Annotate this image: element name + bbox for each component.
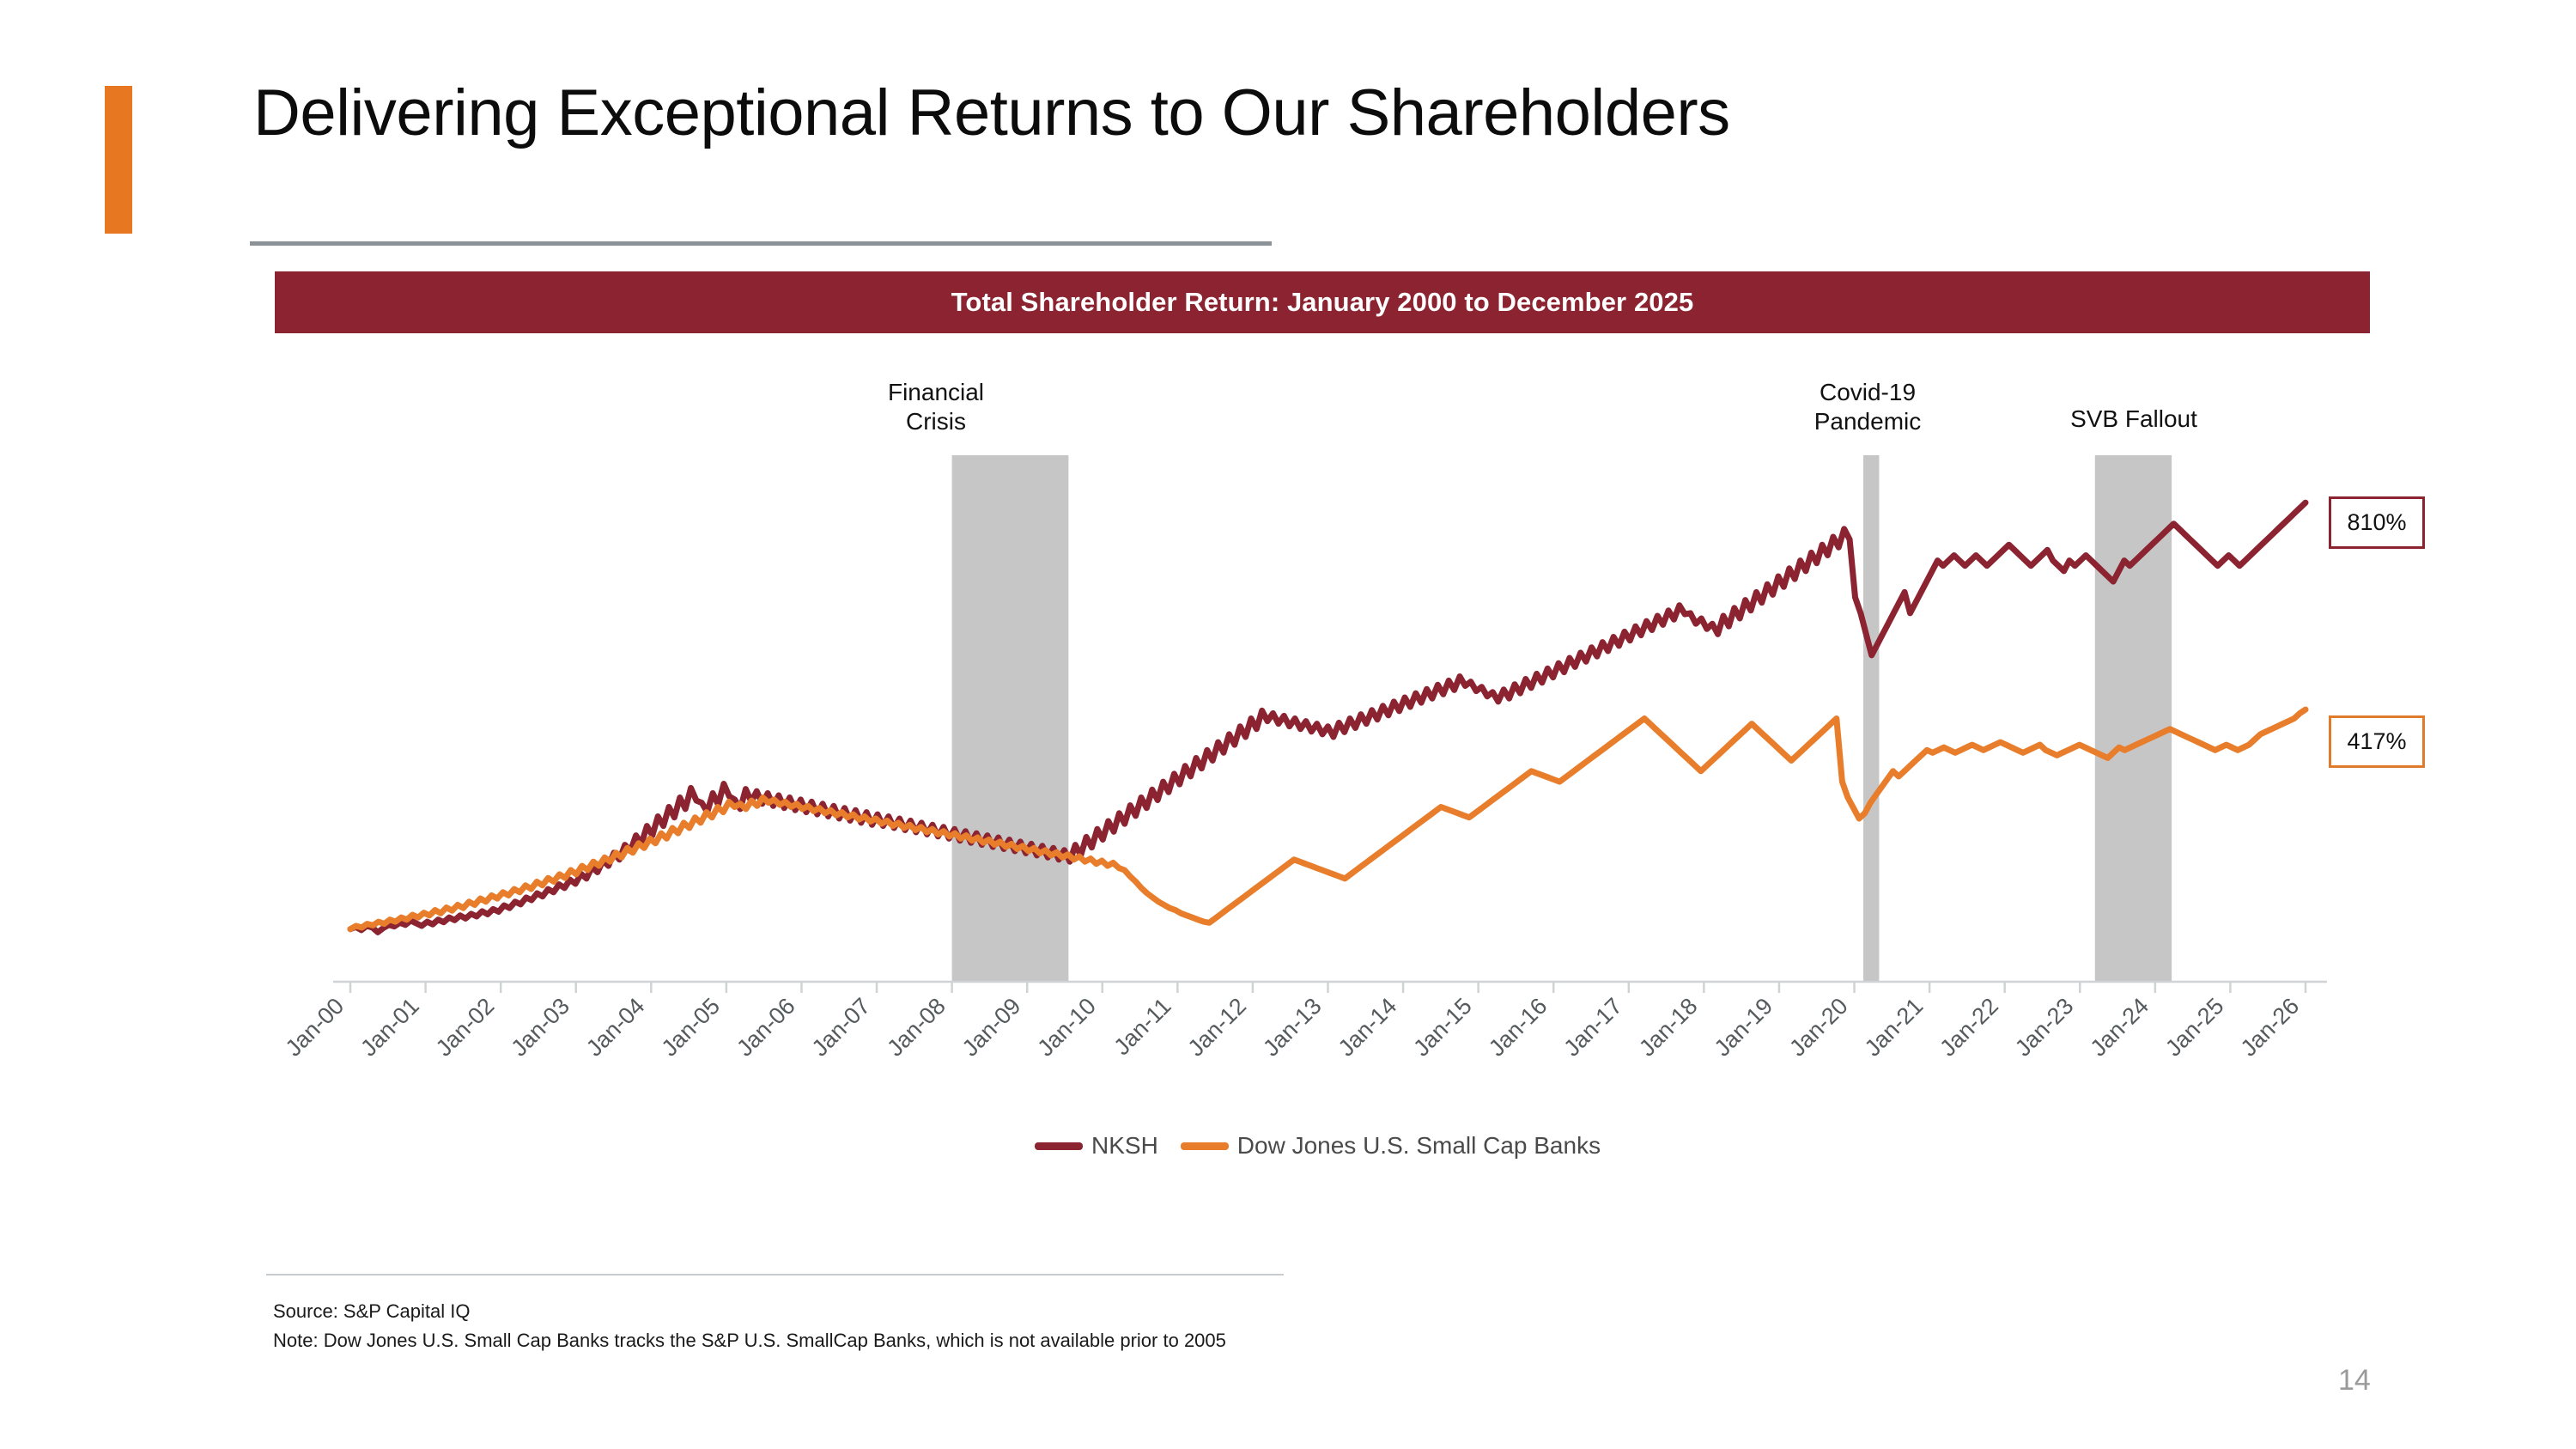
legend-item-dow-jones-small-cap-banks: Dow Jones U.S. Small Cap Banks bbox=[1181, 1132, 1601, 1160]
event-label-svb-fallout: SVB Fallout bbox=[2065, 405, 2202, 434]
event-label-line1: Financial bbox=[867, 378, 1005, 407]
legend-item-nksh: NKSH bbox=[1035, 1132, 1158, 1160]
x-axis-tick-label: Jan-21 bbox=[1860, 993, 1929, 1062]
callout-value: 417% bbox=[2347, 728, 2406, 755]
callout-dow-jones-end-value: 417% bbox=[2329, 715, 2425, 768]
chart-legend: NKSH Dow Jones U.S. Small Cap Banks bbox=[1035, 1132, 1601, 1160]
x-axis-tick-label: Jan-17 bbox=[1558, 993, 1627, 1062]
x-axis-tick-label: Jan-16 bbox=[1484, 993, 1552, 1062]
x-axis-tick-label: Jan-15 bbox=[1408, 993, 1477, 1062]
x-axis-tick-label: Jan-09 bbox=[957, 993, 1026, 1062]
page-number: 14 bbox=[2338, 1364, 2371, 1397]
x-axis-tick-label: Jan-25 bbox=[2160, 993, 2229, 1062]
event-label-line1: Covid-19 bbox=[1799, 378, 1936, 407]
total-shareholder-return-line-chart: Jan-00Jan-01Jan-02Jan-03Jan-04Jan-05Jan-… bbox=[0, 0, 2576, 1449]
footnote-source: Source: S&P Capital IQ bbox=[273, 1297, 1226, 1326]
x-axis-tick-label: Jan-11 bbox=[1109, 993, 1176, 1060]
x-axis-tick-label: Jan-23 bbox=[2010, 993, 2079, 1062]
slide: Delivering Exceptional Returns to Our Sh… bbox=[0, 0, 2576, 1449]
shaded-band-financial-crisis bbox=[952, 455, 1069, 982]
event-label-line2: Crisis bbox=[867, 407, 1005, 436]
x-axis-tick-label: Jan-05 bbox=[657, 993, 726, 1062]
event-label-covid-19-pandemic: Covid-19 Pandemic bbox=[1799, 378, 1936, 436]
legend-label-dow-jones: Dow Jones U.S. Small Cap Banks bbox=[1237, 1132, 1601, 1160]
x-axis-tick-label: Jan-04 bbox=[581, 993, 650, 1062]
legend-label-nksh: NKSH bbox=[1091, 1132, 1158, 1160]
x-axis-tick-label: Jan-22 bbox=[1935, 993, 2003, 1062]
series-line-dow-jones-u-s-small-cap-banks bbox=[350, 709, 2306, 929]
legend-swatch-dow-jones bbox=[1181, 1142, 1229, 1150]
legend-swatch-nksh bbox=[1035, 1142, 1083, 1150]
x-axis-tick-label: Jan-14 bbox=[1334, 993, 1402, 1062]
event-label-financial-crisis: Financial Crisis bbox=[867, 378, 1005, 436]
callout-nksh-end-value: 810% bbox=[2329, 496, 2425, 549]
series-line-nksh bbox=[350, 502, 2306, 932]
footnote-note: Note: Dow Jones U.S. Small Cap Banks tra… bbox=[273, 1326, 1226, 1355]
chart-container: Jan-00Jan-01Jan-02Jan-03Jan-04Jan-05Jan-… bbox=[0, 0, 2576, 1449]
x-axis-tick-label: Jan-13 bbox=[1258, 993, 1327, 1062]
x-axis-tick-label: Jan-26 bbox=[2236, 993, 2305, 1062]
x-axis-tick-label: Jan-10 bbox=[1032, 993, 1101, 1062]
x-axis-tick-label: Jan-18 bbox=[1634, 993, 1703, 1062]
x-axis-tick-label: Jan-02 bbox=[431, 993, 500, 1062]
x-axis-tick-label: Jan-12 bbox=[1183, 993, 1252, 1062]
event-label-line1: SVB Fallout bbox=[2065, 405, 2202, 434]
x-axis-tick-label: Jan-19 bbox=[1710, 993, 1778, 1062]
callout-value: 810% bbox=[2347, 509, 2406, 536]
x-axis-tick-label: Jan-03 bbox=[506, 993, 574, 1062]
x-axis-tick-label: Jan-20 bbox=[1784, 993, 1853, 1062]
footnotes: Source: S&P Capital IQ Note: Dow Jones U… bbox=[273, 1297, 1226, 1355]
shaded-band-covid-19-pandemic bbox=[1863, 455, 1879, 982]
x-axis-tick-label: Jan-00 bbox=[281, 993, 349, 1062]
event-label-line2: Pandemic bbox=[1799, 407, 1936, 436]
x-axis-tick-label: Jan-07 bbox=[807, 993, 876, 1062]
x-axis-tick-label: Jan-01 bbox=[355, 993, 424, 1062]
x-axis-tick-label: Jan-08 bbox=[882, 993, 951, 1062]
x-axis-tick-label: Jan-06 bbox=[732, 993, 800, 1062]
x-axis-tick-label: Jan-24 bbox=[2085, 993, 2154, 1062]
footer-divider bbox=[266, 1274, 1284, 1275]
